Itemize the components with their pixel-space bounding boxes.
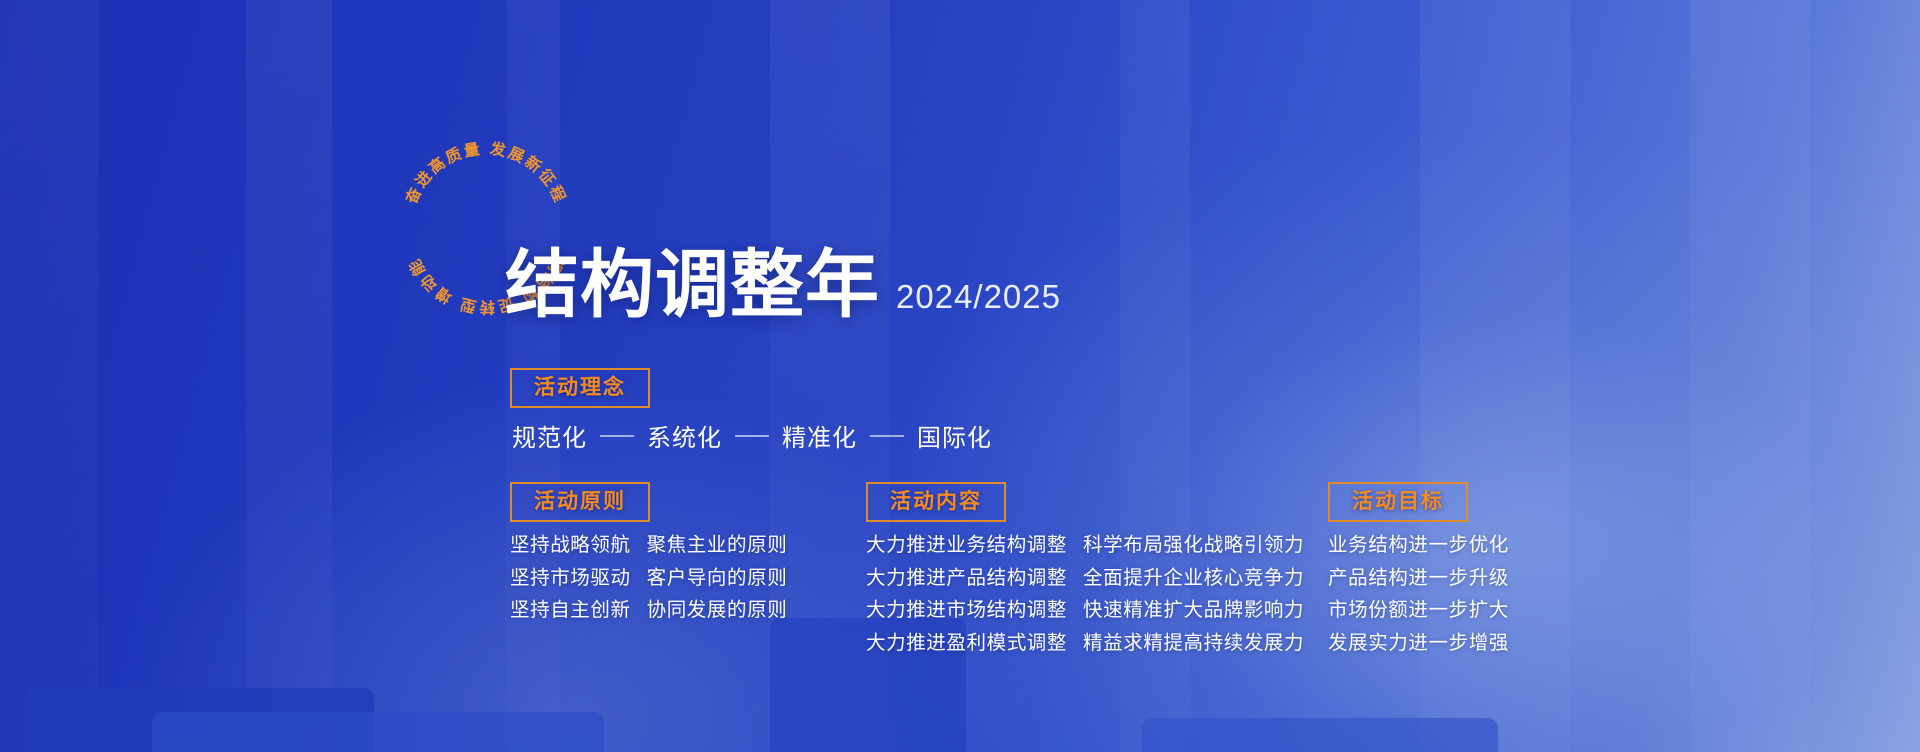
row-right: 精益求精提高持续发展力 bbox=[1083, 634, 1304, 654]
rect-right-block bbox=[1142, 718, 1498, 752]
badge-activity-idea: 活动理念 bbox=[510, 368, 650, 408]
table-row: 大力推进盈利模式调整 精益求精提高持续发展力 bbox=[866, 634, 1304, 654]
row-left: 大力推进盈利模式调整 bbox=[866, 634, 1067, 654]
row-right: 快速精准扩大品牌影响力 bbox=[1083, 601, 1304, 621]
table-row: 发展实力进一步增强 bbox=[1328, 634, 1509, 654]
three-column-section: 活动原则 坚持战略领航 聚焦主业的原则 坚持市场驱动 客户导向的原则 坚持自主创… bbox=[0, 482, 1920, 682]
row-left: 坚持自主创新 bbox=[510, 601, 631, 621]
table-row: 大力推进产品结构调整 全面提升企业核心竞争力 bbox=[866, 569, 1304, 589]
row-left: 业务结构进一步优化 bbox=[1328, 536, 1509, 556]
table-row: 大力推进市场结构调整 快速精准扩大品牌影响力 bbox=[866, 601, 1304, 621]
row-left: 大力推进业务结构调整 bbox=[866, 536, 1067, 556]
column-content: 活动内容 大力推进业务结构调整 科学布局强化战略引领力 大力推进产品结构调整 全… bbox=[866, 482, 1304, 666]
idea-separator-icon bbox=[870, 435, 904, 437]
table-row: 市场份额进一步扩大 bbox=[1328, 601, 1509, 621]
row-left: 发展实力进一步增强 bbox=[1328, 634, 1509, 654]
row-right: 科学布局强化战略引领力 bbox=[1083, 536, 1304, 556]
goals-row-list: 业务结构进一步优化 产品结构进一步升级 市场份额进一步扩大 发展实力进一步增强 bbox=[1328, 536, 1509, 653]
column-goals: 活动目标 业务结构进一步优化 产品结构进一步升级 市场份额进一步扩大 发展实力进… bbox=[1328, 482, 1509, 666]
idea-keyword-list: 规范化 系统化 精准化 国际化 bbox=[512, 418, 992, 453]
table-row: 大力推进业务结构调整 科学布局强化战略引领力 bbox=[866, 536, 1304, 556]
row-left: 大力推进产品结构调整 bbox=[866, 569, 1067, 589]
table-row: 坚持自主创新 协同发展的原则 bbox=[510, 601, 787, 621]
table-row: 产品结构进一步升级 bbox=[1328, 569, 1509, 589]
table-row: 业务结构进一步优化 bbox=[1328, 536, 1509, 556]
campaign-banner: 奋进高质量 发展新征程 调结构 促转型 增动能 结构调整年 2024/2025 … bbox=[0, 0, 1920, 752]
row-right: 全面提升企业核心竞争力 bbox=[1083, 569, 1304, 589]
row-left: 产品结构进一步升级 bbox=[1328, 569, 1509, 589]
rect-left-inner bbox=[152, 712, 604, 752]
table-row: 坚持市场驱动 客户导向的原则 bbox=[510, 569, 787, 589]
idea-keyword: 系统化 bbox=[647, 418, 722, 453]
seal-top-textpath: 奋进高质量 发展新征程 bbox=[401, 139, 570, 208]
idea-separator-icon bbox=[735, 435, 769, 437]
row-right: 聚焦主业的原则 bbox=[647, 536, 788, 556]
idea-separator-icon bbox=[600, 435, 634, 437]
content-row-list: 大力推进业务结构调整 科学布局强化战略引领力 大力推进产品结构调整 全面提升企业… bbox=[866, 536, 1304, 653]
column-principles: 活动原则 坚持战略领航 聚焦主业的原则 坚持市场驱动 客户导向的原则 坚持自主创… bbox=[510, 482, 787, 634]
row-right: 客户导向的原则 bbox=[647, 569, 788, 589]
idea-keyword: 精准化 bbox=[782, 418, 857, 453]
principles-row-list: 坚持战略领航 聚焦主业的原则 坚持市场驱动 客户导向的原则 坚持自主创新 协同发… bbox=[510, 536, 787, 621]
badge-activity-content: 活动内容 bbox=[866, 482, 1006, 522]
page-title: 结构调整年 2024/2025 bbox=[505, 248, 1061, 322]
row-left: 市场份额进一步扩大 bbox=[1328, 601, 1509, 621]
badge-activity-goals: 活动目标 bbox=[1328, 482, 1468, 522]
row-left: 大力推进市场结构调整 bbox=[866, 601, 1067, 621]
rect-left-wide bbox=[24, 688, 374, 752]
title-year-text: 2024/2025 bbox=[896, 278, 1061, 322]
seal-top-text: 奋进高质量 发展新征程 bbox=[401, 139, 570, 208]
idea-badge-container: 活动理念 bbox=[510, 368, 650, 408]
row-left: 坚持战略领航 bbox=[510, 536, 631, 556]
row-left: 坚持市场驱动 bbox=[510, 569, 631, 589]
row-right: 协同发展的原则 bbox=[647, 601, 788, 621]
idea-keyword: 规范化 bbox=[512, 418, 587, 453]
badge-activity-principles: 活动原则 bbox=[510, 482, 650, 522]
title-main-text: 结构调整年 bbox=[505, 248, 880, 322]
table-row: 坚持战略领航 聚焦主业的原则 bbox=[510, 536, 787, 556]
idea-keyword: 国际化 bbox=[917, 418, 992, 453]
